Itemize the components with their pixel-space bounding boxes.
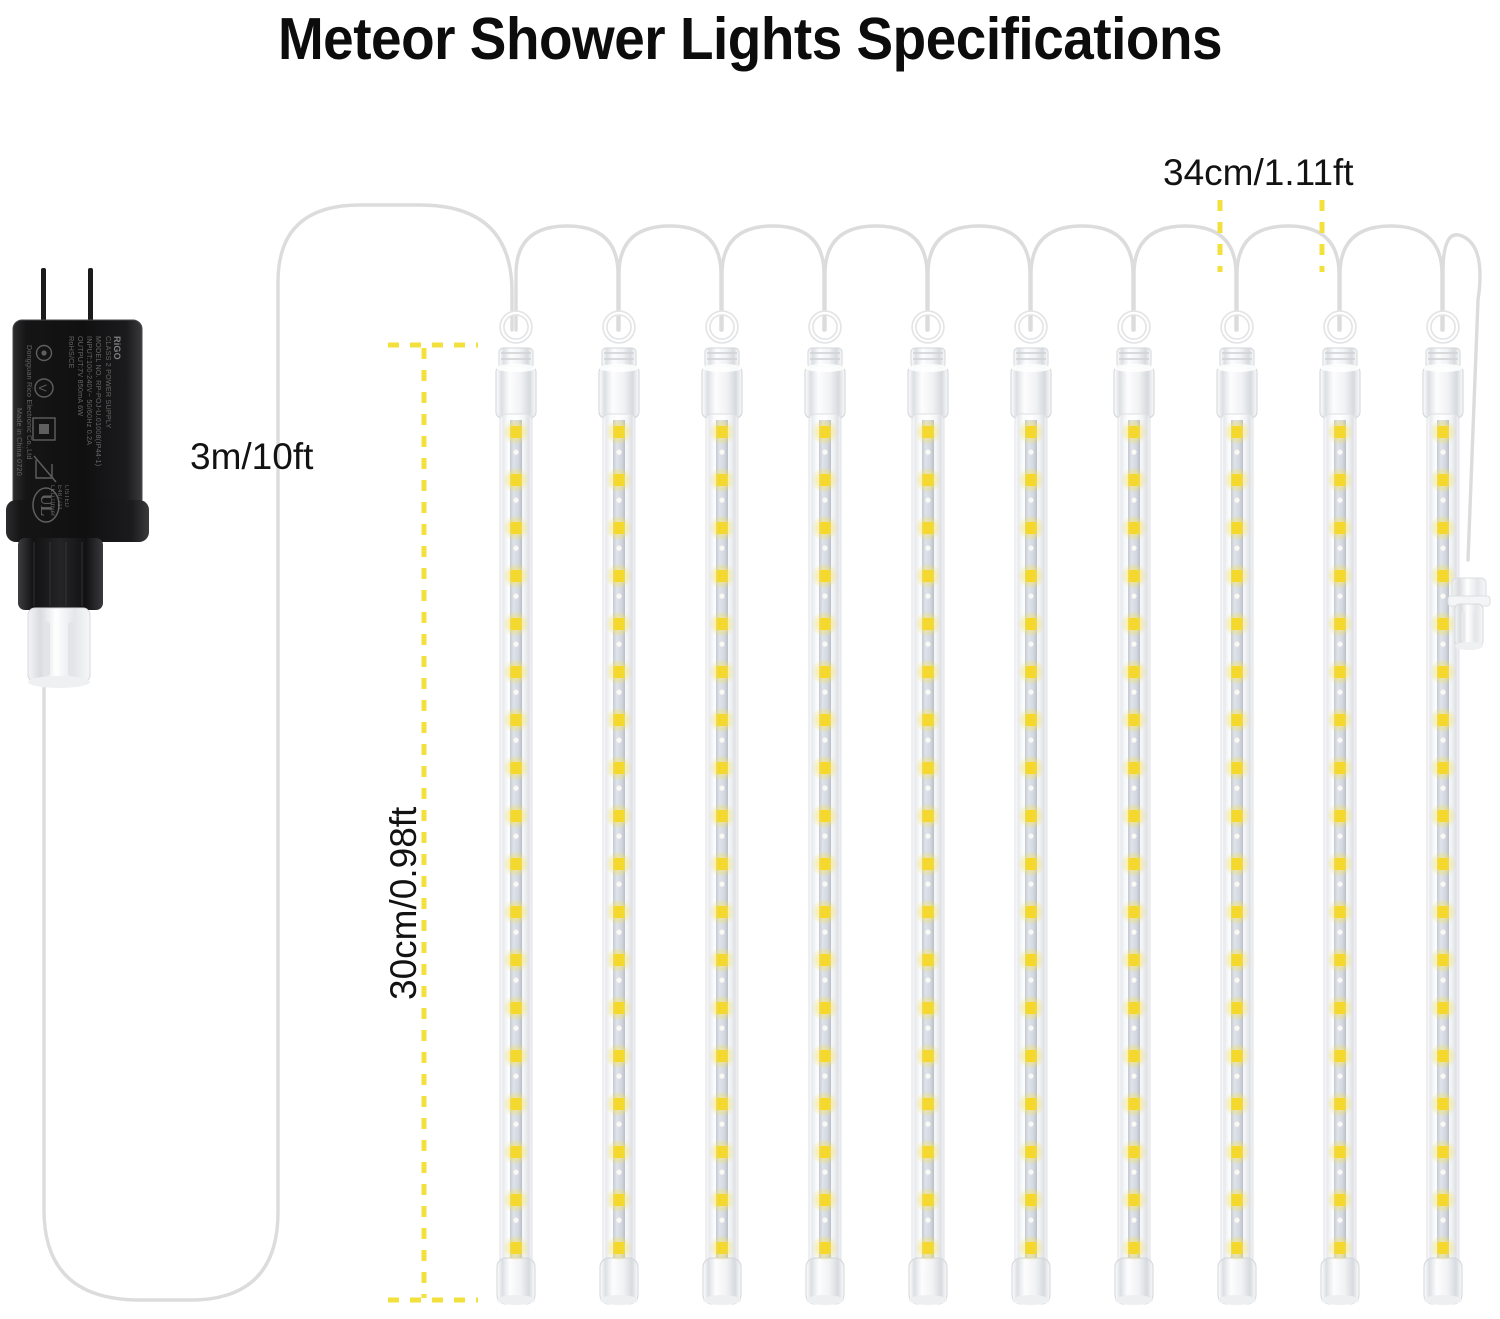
- led-tube[interactable]: [1217, 313, 1257, 1305]
- led-chip: [1438, 426, 1449, 438]
- led-tube[interactable]: [1011, 313, 1051, 1305]
- led-highlight-dot: [822, 594, 827, 599]
- led-chip: [1438, 1146, 1449, 1158]
- led-highlight-dot: [719, 1218, 724, 1223]
- led-highlight-dot: [1131, 1218, 1136, 1223]
- led-chip: [923, 1098, 934, 1110]
- led-chip: [820, 1050, 831, 1062]
- led-chip: [923, 666, 934, 678]
- led-chip: [1232, 666, 1243, 678]
- led-chip: [1026, 906, 1037, 918]
- led-highlight-dot: [513, 1122, 518, 1127]
- led-chip: [1438, 954, 1449, 966]
- led-highlight-dot: [1028, 690, 1033, 695]
- led-chip: [1129, 906, 1140, 918]
- led-highlight-dot: [1131, 930, 1136, 935]
- led-highlight-dot: [822, 786, 827, 791]
- led-highlight-dot: [1440, 978, 1445, 983]
- led-highlight-dot: [822, 834, 827, 839]
- led-chip: [1438, 618, 1449, 630]
- led-chip: [717, 666, 728, 678]
- led-chip: [820, 1242, 831, 1254]
- led-chip: [923, 762, 934, 774]
- adapter-spec-line: INPUT:100-240V~ 50/60Hz 0.2A: [85, 336, 94, 445]
- tube-end-cap: [1424, 1258, 1462, 1305]
- led-chip: [717, 906, 728, 918]
- led-chip: [820, 714, 831, 726]
- led-chip: [717, 1002, 728, 1014]
- led-chip: [1129, 762, 1140, 774]
- led-chip: [1335, 1242, 1346, 1254]
- led-chip: [1335, 666, 1346, 678]
- led-chip: [1438, 666, 1449, 678]
- led-chip: [511, 1050, 522, 1062]
- led-chip: [1232, 1194, 1243, 1206]
- led-chip: [511, 1146, 522, 1158]
- led-chip: [923, 522, 934, 534]
- led-highlight-dot: [925, 1026, 930, 1031]
- led-highlight-dot: [1131, 690, 1136, 695]
- adapter-prong: [88, 268, 93, 323]
- led-highlight-dot: [1440, 594, 1445, 599]
- led-chip: [1232, 858, 1243, 870]
- led-chip: [820, 522, 831, 534]
- led-chip: [614, 858, 625, 870]
- led-chip: [1232, 954, 1243, 966]
- led-chip: [1335, 762, 1346, 774]
- led-highlight-dot: [1234, 642, 1239, 647]
- led-highlight-dot: [1337, 498, 1342, 503]
- svg-text:V: V: [36, 384, 48, 392]
- led-tube[interactable]: [1320, 313, 1360, 1305]
- led-chip: [614, 426, 625, 438]
- tube-cap: [805, 348, 845, 418]
- led-highlight-dot: [1131, 1026, 1136, 1031]
- led-chip: [1129, 714, 1140, 726]
- led-highlight-dot: [1440, 1170, 1445, 1175]
- led-chip: [1335, 906, 1346, 918]
- led-chip: [614, 666, 625, 678]
- led-highlight-dot: [1028, 450, 1033, 455]
- led-chip: [1335, 1050, 1346, 1062]
- led-chip: [923, 810, 934, 822]
- led-highlight-dot: [1440, 1074, 1445, 1079]
- led-chip: [614, 1194, 625, 1206]
- adapter-spec-line: MODEL NO. RP-POJ-U.01008(IP44-1): [94, 336, 103, 466]
- led-highlight-dot: [719, 450, 724, 455]
- dimension-label-tube-height: 30cm/0.98ft: [383, 807, 425, 1000]
- led-chip: [511, 570, 522, 582]
- led-highlight-dot: [1337, 1074, 1342, 1079]
- led-chip: [1438, 1242, 1449, 1254]
- led-highlight-dot: [616, 690, 621, 695]
- led-chip: [1026, 858, 1037, 870]
- led-chip: [614, 810, 625, 822]
- led-chip: [1232, 570, 1243, 582]
- led-highlight-dot: [1234, 1170, 1239, 1175]
- led-highlight-dot: [822, 930, 827, 935]
- led-chip: [1026, 522, 1037, 534]
- led-chip: [1129, 810, 1140, 822]
- led-highlight-dot: [719, 1026, 724, 1031]
- led-chip: [614, 1050, 625, 1062]
- led-highlight-dot: [1440, 786, 1445, 791]
- led-chip: [614, 714, 625, 726]
- led-chip: [1026, 474, 1037, 486]
- led-chip: [717, 1194, 728, 1206]
- tube-end-cap: [497, 1258, 535, 1305]
- led-highlight-dot: [616, 498, 621, 503]
- led-highlight-dot: [1131, 498, 1136, 503]
- led-tube[interactable]: [1114, 313, 1154, 1305]
- dimension-label-lead-cord: 3m/10ft: [190, 436, 313, 478]
- led-chip: [717, 474, 728, 486]
- led-highlight-dot: [1234, 1026, 1239, 1031]
- led-chip: [1026, 1146, 1037, 1158]
- led-highlight-dot: [1028, 1074, 1033, 1079]
- led-chip: [820, 762, 831, 774]
- led-highlight-dot: [1337, 546, 1342, 551]
- led-highlight-dot: [616, 1074, 621, 1079]
- led-highlight-dot: [1337, 1026, 1342, 1031]
- led-chip: [923, 426, 934, 438]
- led-highlight-dot: [1028, 738, 1033, 743]
- tube-cap: [702, 348, 742, 418]
- led-chip: [717, 1098, 728, 1110]
- led-highlight-dot: [719, 498, 724, 503]
- led-highlight-dot: [1440, 834, 1445, 839]
- led-chip: [717, 1146, 728, 1158]
- led-chip: [1232, 810, 1243, 822]
- led-highlight-dot: [822, 642, 827, 647]
- power-adapter[interactable]: V UL: [6, 268, 149, 688]
- led-chip: [1026, 1242, 1037, 1254]
- led-chip: [923, 1242, 934, 1254]
- led-chip: [1232, 1098, 1243, 1110]
- led-highlight-dot: [1028, 1170, 1033, 1175]
- led-chip: [1438, 858, 1449, 870]
- led-chip: [511, 810, 522, 822]
- led-highlight-dot: [1234, 882, 1239, 887]
- led-tube[interactable]: [805, 313, 845, 1305]
- led-highlight-dot: [719, 738, 724, 743]
- led-tube[interactable]: [599, 313, 639, 1305]
- led-chip: [717, 714, 728, 726]
- led-highlight-dot: [719, 786, 724, 791]
- led-chip: [717, 954, 728, 966]
- led-highlight-dot: [719, 930, 724, 935]
- led-highlight-dot: [925, 930, 930, 935]
- tube-end-cap: [909, 1258, 947, 1305]
- led-tube[interactable]: [496, 313, 536, 1305]
- led-highlight-dot: [925, 642, 930, 647]
- led-highlight-dot: [513, 1026, 518, 1031]
- tube-end-cap: [703, 1258, 741, 1305]
- led-highlight-dot: [513, 546, 518, 551]
- led-chip: [923, 1146, 934, 1158]
- led-highlight-dot: [719, 642, 724, 647]
- tube-cap: [1423, 348, 1463, 418]
- led-chip: [717, 570, 728, 582]
- led-highlight-dot: [616, 834, 621, 839]
- led-highlight-dot: [1131, 1074, 1136, 1079]
- led-tube[interactable]: [908, 313, 948, 1305]
- led-chip: [1129, 1194, 1140, 1206]
- led-chip: [1026, 762, 1037, 774]
- led-chip: [511, 1194, 522, 1206]
- led-highlight-dot: [719, 978, 724, 983]
- adapter-brand-text: RiGO: [112, 336, 122, 360]
- led-highlight-dot: [1131, 1122, 1136, 1127]
- led-highlight-dot: [513, 930, 518, 935]
- led-highlight-dot: [513, 738, 518, 743]
- led-chip: [511, 666, 522, 678]
- led-tube[interactable]: [1423, 313, 1463, 1305]
- led-highlight-dot: [822, 1026, 827, 1031]
- led-chip: [820, 1002, 831, 1014]
- led-chip: [1232, 714, 1243, 726]
- led-chip: [1129, 1098, 1140, 1110]
- tube-cap: [908, 348, 948, 418]
- led-chip: [511, 618, 522, 630]
- led-chip: [1026, 1002, 1037, 1014]
- led-highlight-dot: [1131, 642, 1136, 647]
- tube-end-cap: [1218, 1258, 1256, 1305]
- led-highlight-dot: [1131, 834, 1136, 839]
- led-highlight-dot: [925, 498, 930, 503]
- led-chip: [820, 666, 831, 678]
- led-highlight-dot: [822, 450, 827, 455]
- led-highlight-dot: [1028, 1218, 1033, 1223]
- led-highlight-dot: [719, 882, 724, 887]
- led-highlight-dot: [1440, 450, 1445, 455]
- led-highlight-dot: [719, 1074, 724, 1079]
- led-chip: [614, 762, 625, 774]
- led-chip: [1129, 522, 1140, 534]
- led-highlight-dot: [1440, 738, 1445, 743]
- led-highlight-dot: [513, 594, 518, 599]
- led-tube[interactable]: [702, 313, 742, 1305]
- led-highlight-dot: [1028, 786, 1033, 791]
- led-highlight-dot: [822, 1218, 827, 1223]
- led-highlight-dot: [1337, 1218, 1342, 1223]
- led-chip: [511, 906, 522, 918]
- led-chip: [1232, 1242, 1243, 1254]
- led-highlight-dot: [1028, 546, 1033, 551]
- led-highlight-dot: [1440, 1218, 1445, 1223]
- led-highlight-dot: [822, 1122, 827, 1127]
- led-highlight-dot: [1234, 834, 1239, 839]
- led-highlight-dot: [925, 594, 930, 599]
- led-chip: [717, 618, 728, 630]
- adapter-output-plug: [28, 608, 90, 688]
- led-chip: [614, 1098, 625, 1110]
- led-highlight-dot: [719, 1170, 724, 1175]
- led-highlight-dot: [1028, 594, 1033, 599]
- led-highlight-dot: [616, 642, 621, 647]
- led-highlight-dot: [616, 1026, 621, 1031]
- led-highlight-dot: [1234, 450, 1239, 455]
- led-chip: [614, 618, 625, 630]
- led-highlight-dot: [513, 498, 518, 503]
- led-chip: [1335, 810, 1346, 822]
- led-highlight-dot: [1337, 642, 1342, 647]
- led-chip: [1026, 1194, 1037, 1206]
- led-highlight-dot: [1234, 594, 1239, 599]
- led-chip: [511, 474, 522, 486]
- led-chip: [717, 810, 728, 822]
- led-chip: [923, 1002, 934, 1014]
- led-chip: [511, 714, 522, 726]
- adapter-spec-line: OUTPUT:7V 850mA 6W: [76, 336, 85, 416]
- led-highlight-dot: [1337, 738, 1342, 743]
- led-highlight-dot: [822, 1074, 827, 1079]
- led-chip: [1232, 474, 1243, 486]
- led-chip: [614, 906, 625, 918]
- led-chip: [1129, 618, 1140, 630]
- led-chip: [1129, 1242, 1140, 1254]
- led-highlight-dot: [925, 978, 930, 983]
- led-highlight-dot: [1234, 738, 1239, 743]
- led-highlight-dot: [1440, 546, 1445, 551]
- led-highlight-dot: [719, 834, 724, 839]
- led-highlight-dot: [822, 690, 827, 695]
- led-highlight-dot: [1337, 978, 1342, 983]
- led-highlight-dot: [1131, 450, 1136, 455]
- led-highlight-dot: [616, 546, 621, 551]
- led-chip: [511, 954, 522, 966]
- led-highlight-dot: [1234, 930, 1239, 935]
- led-highlight-dot: [925, 882, 930, 887]
- led-chip: [1335, 522, 1346, 534]
- led-highlight-dot: [1234, 1074, 1239, 1079]
- led-highlight-dot: [513, 786, 518, 791]
- led-chip: [1129, 474, 1140, 486]
- led-highlight-dot: [513, 978, 518, 983]
- led-chip: [1335, 1146, 1346, 1158]
- led-highlight-dot: [925, 546, 930, 551]
- led-chip: [1438, 1002, 1449, 1014]
- led-highlight-dot: [616, 594, 621, 599]
- led-highlight-dot: [616, 786, 621, 791]
- led-chip: [1335, 1002, 1346, 1014]
- adapter-spec-line: RoHS/CE: [67, 336, 76, 369]
- led-chip: [1026, 714, 1037, 726]
- led-chip: [1129, 1146, 1140, 1158]
- led-highlight-dot: [1234, 1122, 1239, 1127]
- led-chip: [717, 1242, 728, 1254]
- led-tube-group: [496, 313, 1463, 1305]
- led-chip: [923, 1194, 934, 1206]
- led-highlight-dot: [925, 738, 930, 743]
- led-chip: [614, 570, 625, 582]
- led-highlight-dot: [719, 594, 724, 599]
- led-chip: [820, 1098, 831, 1110]
- led-chip: [820, 906, 831, 918]
- led-highlight-dot: [925, 786, 930, 791]
- led-highlight-dot: [925, 834, 930, 839]
- led-chip: [717, 522, 728, 534]
- led-chip: [1232, 618, 1243, 630]
- led-chip: [1335, 618, 1346, 630]
- led-chip: [1232, 762, 1243, 774]
- led-highlight-dot: [1234, 498, 1239, 503]
- led-highlight-dot: [513, 1074, 518, 1079]
- adapter-manufacturer-text: Dongguan Rico Electronic Co.,Ltd: [25, 345, 34, 460]
- led-highlight-dot: [719, 1122, 724, 1127]
- led-chip: [717, 426, 728, 438]
- led-chip: [1232, 1146, 1243, 1158]
- led-chip: [511, 1002, 522, 1014]
- led-chip: [511, 858, 522, 870]
- adapter-cert-line: LISTED: [63, 485, 69, 507]
- led-chip: [820, 570, 831, 582]
- led-chip: [1335, 954, 1346, 966]
- led-highlight-dot: [822, 882, 827, 887]
- led-chip: [614, 522, 625, 534]
- led-chip: [1335, 714, 1346, 726]
- led-highlight-dot: [1028, 882, 1033, 887]
- tube-end-cap: [600, 1258, 638, 1305]
- led-chip: [820, 954, 831, 966]
- led-highlight-dot: [616, 1122, 621, 1127]
- tube-cap: [1114, 348, 1154, 418]
- led-chip: [820, 426, 831, 438]
- led-chip: [820, 858, 831, 870]
- led-highlight-dot: [1131, 1170, 1136, 1175]
- led-chip: [1438, 570, 1449, 582]
- led-highlight-dot: [925, 450, 930, 455]
- led-highlight-dot: [513, 450, 518, 455]
- led-highlight-dot: [1131, 786, 1136, 791]
- led-highlight-dot: [1131, 882, 1136, 887]
- led-highlight-dot: [1440, 642, 1445, 647]
- led-chip: [1438, 1050, 1449, 1062]
- product-diagram: V UL: [0, 0, 1500, 1319]
- led-chip: [923, 858, 934, 870]
- led-chip: [511, 1242, 522, 1254]
- led-highlight-dot: [1234, 546, 1239, 551]
- tube-end-cap: [1321, 1258, 1359, 1305]
- led-chip: [1129, 1050, 1140, 1062]
- led-highlight-dot: [719, 546, 724, 551]
- led-chip: [1129, 666, 1140, 678]
- led-highlight-dot: [513, 642, 518, 647]
- led-highlight-dot: [1440, 498, 1445, 503]
- led-highlight-dot: [1337, 786, 1342, 791]
- led-chip: [1026, 954, 1037, 966]
- led-highlight-dot: [513, 834, 518, 839]
- led-highlight-dot: [1337, 1122, 1342, 1127]
- led-highlight-dot: [1131, 546, 1136, 551]
- led-chip: [1232, 1050, 1243, 1062]
- led-chip: [923, 474, 934, 486]
- led-chip: [717, 1050, 728, 1062]
- led-chip: [614, 474, 625, 486]
- led-chip: [820, 474, 831, 486]
- led-highlight-dot: [1337, 1170, 1342, 1175]
- led-highlight-dot: [1337, 930, 1342, 935]
- led-highlight-dot: [925, 1074, 930, 1079]
- led-highlight-dot: [616, 882, 621, 887]
- led-highlight-dot: [822, 978, 827, 983]
- led-chip: [1335, 474, 1346, 486]
- led-chip: [923, 570, 934, 582]
- tube-cap: [1320, 348, 1360, 418]
- led-highlight-dot: [616, 978, 621, 983]
- led-highlight-dot: [616, 450, 621, 455]
- led-highlight-dot: [1337, 450, 1342, 455]
